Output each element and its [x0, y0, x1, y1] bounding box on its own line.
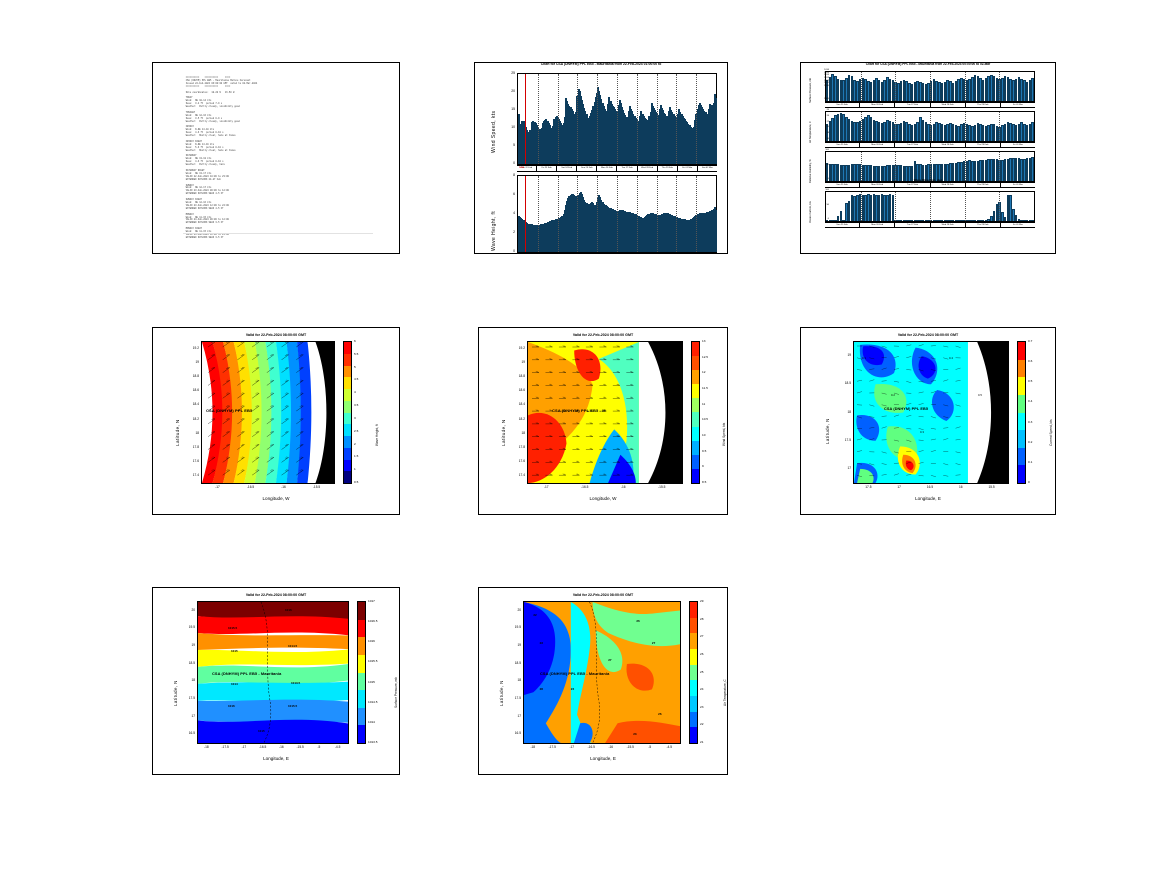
colorbar-segment [692, 455, 699, 469]
gridline [861, 152, 862, 181]
y-tick-label: 19 [501, 643, 521, 647]
colorbar-segment [692, 412, 699, 426]
gridline [558, 176, 559, 252]
current-day-strip: Sun 25 FebMon 26 FebTue 27 FebWed 28 Feb… [825, 222, 1035, 228]
surface-pressure-map-ylabel: Latitude, N [173, 680, 178, 706]
wind-wave-chart-title: Chart for CSA (DNHYM) PPL EB5 - Mauritan… [475, 62, 727, 66]
gridline [597, 74, 598, 164]
y-tick-label: 19.2 [505, 346, 525, 350]
wave-height-colorbar-title: Wave Height, ft [375, 424, 379, 446]
x-tick-label: -15.5 [305, 485, 329, 489]
contour-label: 22 [533, 613, 536, 617]
y-tick-label: 17.5 [175, 696, 195, 700]
surface-pressure-map-xlabel: Longitude, E [153, 756, 399, 761]
colorbar-tick-label: 13 [702, 339, 705, 343]
panel-current-speed-map: Valid for 22-Feb-2024 08:00:00 GMT CSA (… [800, 327, 1056, 515]
y-tick-label: 100 [807, 149, 829, 151]
y-tick-label: 0 [493, 249, 515, 253]
y-tick-label: 19 [505, 360, 525, 364]
x-tick-label: -17 [206, 485, 230, 489]
gridline [895, 112, 896, 141]
bar [715, 98, 717, 164]
current-speed-colorbar [1017, 341, 1026, 484]
x-tick-label: 16.5 [918, 485, 942, 489]
wind-speed-map-xlabel: Longitude, W [479, 496, 727, 501]
colorbar-tick-label: 3.5 [354, 403, 358, 407]
y-tick-label: 19.2 [179, 346, 199, 350]
gridline [999, 152, 1000, 181]
panel-text-report: ========== ========== ==== CSA (DNHYM) P… [152, 62, 400, 254]
colorbar-segment [690, 665, 697, 681]
y-tick-label: 17.6 [179, 459, 199, 463]
day-label: Mon 26 Feb [860, 183, 895, 187]
bar [892, 195, 894, 221]
metocean-chart-title: Chart for CSA (DNHYM) PPL EB5 - Mauritan… [801, 62, 1055, 66]
contour-label: 1015.5 [228, 626, 237, 630]
y-tick-label: 17 [175, 714, 195, 718]
gridline [538, 74, 539, 164]
y-tick-label: 17.5 [501, 696, 521, 700]
contour-label: 1014.5 [288, 644, 297, 648]
wave-height-axes [517, 175, 717, 253]
y-tick-label: 1015 [807, 72, 829, 74]
site-label: CSA (DNHYM) PPL EB5 [206, 408, 252, 413]
air-temperature-map-title: Valid for 22-Feb-2024 08:00:00 GMT [479, 593, 727, 597]
day-label: Mon 26 Feb [597, 166, 617, 171]
colorbar-tick-label: 8.5 [702, 480, 706, 484]
colorbar-segment [1018, 360, 1025, 378]
y-tick-label: 2 [493, 230, 515, 234]
day-label: Fri 23 Feb [537, 166, 557, 171]
y-tick-label: 25 [493, 71, 515, 75]
y-tick-label: 17.5 [831, 438, 851, 442]
day-label: Tue 27 Feb [895, 223, 930, 227]
gridline [965, 152, 966, 181]
gridline [930, 192, 931, 221]
panel-wind-wave-timeseries: Chart for CSA (DNHYM) PPL EB5 - Mauritan… [474, 62, 728, 254]
x-tick-label: -16 [272, 485, 296, 489]
day-label: Sun 25 Feb [825, 143, 860, 147]
y-tick-label: 19.5 [175, 625, 195, 629]
colorbar-tick-label: 0.5 [354, 480, 358, 484]
x-tick-label: -16.5 [239, 485, 263, 489]
y-tick-label: 17.6 [505, 459, 525, 463]
day-label: Thu 29 Feb [966, 183, 1001, 187]
colorbar-tick-label: 11.5 [702, 386, 708, 390]
y-tick-label: 1014 [807, 74, 829, 76]
colorbar-segment [692, 398, 699, 412]
colorbar-tick-label: 0.3 [1028, 420, 1032, 424]
colorbar-segment [1018, 413, 1025, 431]
colorbar-segment [690, 602, 697, 618]
colorbar-segment [344, 354, 351, 366]
y-tick-label: 19 [831, 353, 851, 357]
day-label: Thu 29 Feb [966, 143, 1001, 147]
colorbar-tick-label: 23 [700, 705, 703, 709]
day-label: Fri 01 Mar [1001, 103, 1035, 107]
colorbar-tick-label: 1014.5 [368, 700, 377, 704]
y-tick-label: 18 [831, 410, 851, 414]
x-tick-label: -16 [611, 485, 635, 489]
colorbar-tick-label: 11 [702, 402, 705, 406]
air-temperature-map-ylabel: Latitude, N [499, 680, 504, 706]
colorbar-segment [1018, 395, 1025, 413]
gridline [965, 72, 966, 101]
day-label: Tue 27 Feb [895, 183, 930, 187]
colorbar-segment [344, 413, 351, 425]
y-tick-label: 26 [807, 109, 829, 111]
gridline [657, 74, 658, 164]
colorbar-tick-label: 1015 [368, 680, 375, 684]
panel-wind-speed-map: Valid for 22-Feb-2024 08:00:00 GMT CSA (… [478, 327, 728, 515]
y-tick-label: 16.5 [175, 731, 195, 735]
x-tick-label: -15.5 [650, 485, 674, 489]
colorbar-segment [690, 649, 697, 665]
gridline [895, 152, 896, 181]
gridline [577, 176, 578, 252]
day-label: Tue 27 Feb [895, 103, 930, 107]
y-tick-label: 17 [501, 714, 521, 718]
day-label: Fri 01 Mar [1001, 183, 1035, 187]
y-tick-label: 15 [493, 107, 515, 111]
y-tick-label: 17.8 [505, 445, 525, 449]
site-label: CSA (DNHYM) PPL EB5 - Mauritania [540, 671, 609, 676]
day-label: Mon 26 Feb [860, 103, 895, 107]
air-temperature-colorbar-title: Air Temperature, C [723, 679, 727, 706]
colorbar-tick-label: 1013.5 [368, 740, 377, 744]
day-label: Thu 29 Feb [658, 166, 678, 171]
contour-label: 26 [658, 712, 661, 716]
y-tick-label: 1012 [807, 80, 829, 82]
now-label-wind: now [519, 166, 524, 169]
panel-surface-pressure-map: Valid for 22-Feb-2024 08:00:00 GMT CSA (… [152, 587, 400, 775]
colorbar-tick-label: 1015.5 [368, 659, 377, 663]
gridline [999, 72, 1000, 101]
colorbar-segment [690, 633, 697, 649]
colorbar-tick-label: 3 [354, 416, 356, 420]
wind-speed-map-title: Valid for 22-Feb-2024 08:00:00 GMT [479, 333, 727, 337]
site-label: CSA (DNHYM) PPL EB5 [884, 407, 928, 411]
air-temp-axes [825, 111, 1035, 142]
y-tick-label: 17.4 [505, 473, 525, 477]
colorbar-segment [692, 469, 699, 483]
y-tick-label: 1013 [807, 77, 829, 79]
gridline [617, 74, 618, 164]
day-label: Fri 01 Mar [1001, 223, 1035, 227]
colorbar-tick-label: 4 [354, 390, 356, 394]
colorbar-segment [690, 680, 697, 696]
colorbar-tick-label: 29 [700, 599, 703, 603]
pressure-day-strip: Sun 25 FebMon 26 FebTue 27 FebWed 28 Feb… [825, 102, 1035, 108]
colorbar-segment [692, 342, 699, 356]
current-speed-map-xlabel: Longitude, E [801, 496, 1055, 501]
pressure-axes [825, 71, 1035, 102]
y-tick-label: 18 [505, 431, 525, 435]
colorbar-tick-label: 6 [354, 339, 356, 343]
colorbar-tick-label: 0.4 [1028, 399, 1032, 403]
gridline [930, 152, 931, 181]
colorbar-tick-label: 0.2 [1028, 440, 1032, 444]
wind-speed-colorbar-title: Wind Speed, kts [722, 423, 726, 446]
colorbar-tick-label: 25 [700, 670, 703, 674]
day-label: Thu 29 Feb [966, 103, 1001, 107]
colorbar-tick-label: 27 [700, 634, 703, 638]
y-tick-label: 18.4 [505, 402, 525, 406]
contour-label: 23 [540, 641, 543, 645]
forecast-text-body: ========== ========== ==== CSA (DNHYM) P… [183, 77, 391, 247]
gridline [861, 112, 862, 141]
gridline [676, 74, 677, 164]
y-tick-label: 8 [493, 173, 515, 177]
colorbar-segment [1018, 465, 1025, 483]
colorbar-tick-label: 1016.5 [368, 619, 377, 623]
gridline [861, 72, 862, 101]
day-label: Wed 28 Feb [931, 223, 966, 227]
colorbar-segment [1018, 342, 1025, 360]
wind-day-strip: Thu 22 FebFri 23 FebSat 24 FebSun 25 Feb… [517, 165, 717, 172]
colorbar-tick-label: 0.1 [1028, 460, 1032, 464]
day-label: Sun 25 Feb [577, 166, 597, 171]
site-label: CSA (DNHYM) PPL EB5 - M [552, 408, 606, 413]
y-tick-label: 16 [807, 138, 829, 140]
colorbar-segment [692, 441, 699, 455]
contour-label: 1014 [231, 682, 238, 686]
y-tick-label: 20 [493, 89, 515, 93]
temp-day-strip: Sun 25 FebMon 26 FebTue 27 FebWed 28 Feb… [825, 142, 1035, 148]
y-tick-label: 18 [179, 431, 199, 435]
y-tick-label: 17.8 [179, 445, 199, 449]
colorbar-tick-label: 10.5 [702, 417, 708, 421]
y-tick-label: 4 [493, 211, 515, 215]
gridline [930, 72, 931, 101]
day-label: Sun 25 Feb [825, 223, 860, 227]
y-tick-label: 24 [807, 115, 829, 117]
colorbar-tick-label: 0.7 [1028, 339, 1032, 343]
y-tick-label: 18.5 [501, 661, 521, 665]
contour-label: 27 [608, 658, 611, 662]
colorbar-tick-label: 4.5 [354, 377, 358, 381]
gridline [637, 74, 638, 164]
colorbar-tick-label: 5 [354, 365, 356, 369]
colorbar-tick-label: 2.5 [354, 429, 358, 433]
day-label: Tue 27 Feb [895, 143, 930, 147]
contour-label: 1015 [258, 729, 265, 733]
x-tick-label: -4.5 [657, 745, 681, 749]
contour-label: 27 [652, 641, 655, 645]
day-label: Wed 28 Feb [638, 166, 658, 171]
y-tick-label: 18.4 [179, 402, 199, 406]
y-tick-label: 100 [807, 189, 829, 191]
day-label: Thu 29 Feb [966, 223, 1001, 227]
day-label: Sun 25 Feb [825, 103, 860, 107]
colorbar-segment [358, 620, 365, 638]
x-tick-label: -17 [534, 485, 558, 489]
wave-height-map-axes: CSA (DNHYM) PPL EB5 [201, 341, 335, 484]
colorbar-tick-label: 28 [700, 617, 703, 621]
day-label: Mon 26 Feb [860, 143, 895, 147]
colorbar-segment [358, 655, 365, 673]
gridline [965, 192, 966, 221]
map-canvas [854, 342, 1008, 483]
surface-pressure-map-axes: CSA (DNHYM) PPL EB5 - Mauritania10161015… [197, 601, 349, 744]
colorbar-segment [358, 637, 365, 655]
panel-air-temperature-map: Valid for 22-Feb-2024 08:00:00 GMT CSA (… [478, 587, 728, 775]
y-tick-label: 1016 [807, 69, 829, 71]
contour-label: 1016 [228, 704, 235, 708]
gridline [617, 176, 618, 252]
wave-height-map-title: Valid for 22-Feb-2024 08:00:00 GMT [153, 333, 399, 337]
x-tick-label: 17.5 [856, 485, 880, 489]
colorbar-tick-label: 5.5 [354, 352, 358, 356]
gridline [676, 176, 677, 252]
contour-label: 1016 [285, 608, 292, 612]
y-tick-label: 1005 [807, 98, 829, 100]
panel-metocean-timeseries: Chart for CSA (DNHYM) PPL EB5 - Mauritan… [800, 62, 1056, 254]
colorbar-segment [344, 436, 351, 448]
y-tick-label: 18.5 [831, 381, 851, 385]
day-label: Wed 28 Feb [931, 143, 966, 147]
surface-pressure-colorbar-title: Surface Pressure, mb [394, 677, 398, 708]
contour-label: 1015.5 [288, 704, 297, 708]
panel-wave-height-map: Valid for 22-Feb-2024 08:00:00 GMT CSA (… [152, 327, 400, 515]
colorbar-tick-label: 26 [700, 652, 703, 656]
y-tick-label: 16.5 [501, 731, 521, 735]
colorbar-segment [1018, 430, 1025, 448]
y-tick-label: 18.8 [505, 374, 525, 378]
colorbar-segment [344, 471, 351, 483]
colorbar-segment [690, 696, 697, 712]
y-tick-label: 18.2 [179, 417, 199, 421]
colorbar-tick-label: 24 [700, 687, 703, 691]
bar [715, 210, 717, 252]
colorbar-tick-label: 12.5 [702, 355, 708, 359]
y-tick-label: 17.4 [179, 473, 199, 477]
y-tick-label: 19.5 [501, 625, 521, 629]
day-label: Sat 02 Mar [698, 166, 717, 171]
contour-label: 22 [571, 687, 574, 691]
current-speed-colorbar-title: Current Speed, kts [1049, 419, 1053, 446]
y-tick-label: 6 [493, 192, 515, 196]
contour-label: 0.4 [949, 356, 953, 360]
bar [1031, 122, 1033, 141]
day-label: Wed 28 Feb [931, 103, 966, 107]
day-label: Wed 28 Feb [931, 183, 966, 187]
colorbar-tick-label: 2 [354, 442, 356, 446]
gridline [577, 74, 578, 164]
colorbar-segment [358, 690, 365, 708]
colorbar-tick-label: 9 [702, 464, 704, 468]
y-tick-label: 18.6 [179, 388, 199, 392]
colorbar-segment [344, 424, 351, 436]
x-tick-label: 17 [887, 485, 911, 489]
y-tick-label: 50 [807, 204, 829, 206]
air-temperature-map-axes: CSA (DNHYM) PPL EB5 - Mauritania22232627… [523, 601, 681, 744]
colorbar-tick-label: 21 [700, 740, 703, 744]
colorbar-segment [344, 389, 351, 401]
day-label: Sat 24 Feb [557, 166, 577, 171]
day-label: Sun 25 Feb [825, 183, 860, 187]
gridline [999, 112, 1000, 141]
y-tick-label: 18.2 [505, 417, 525, 421]
colorbar-segment [358, 708, 365, 726]
gridline [696, 176, 697, 252]
colorbar-segment [690, 618, 697, 634]
contour-label: 28 [540, 687, 543, 691]
contour-label: 26 [636, 619, 639, 623]
report-page: ========== ========== ==== CSA (DNHYM) P… [0, 0, 1167, 875]
y-tick-label: 19 [179, 360, 199, 364]
colorbar-tick-label: 0.6 [1028, 359, 1032, 363]
colorbar-segment [358, 602, 365, 620]
contour-label: 0.3 [920, 430, 924, 434]
y-tick-label: 1011 [807, 82, 829, 84]
gridline [558, 74, 559, 164]
y-tick-label: 20 [175, 608, 195, 612]
y-tick-label: 5 [493, 143, 515, 147]
colorbar-segment [690, 712, 697, 728]
colorbar-segment [358, 725, 365, 743]
wave-height-map-xlabel: Longitude, W [153, 496, 399, 501]
now-marker-line [525, 176, 526, 252]
gridline [637, 176, 638, 252]
y-tick-label: 17 [831, 466, 851, 470]
now-marker-line [525, 74, 526, 164]
wind-speed-map-axes: CSA (DNHYM) PPL EB5 - M [527, 341, 683, 484]
colorbar-segment [344, 377, 351, 389]
surface-pressure-map-title: Valid for 22-Feb-2024 08:00:00 GMT [153, 593, 399, 597]
gridline [657, 176, 658, 252]
contour-label: 0.2 [891, 393, 895, 397]
day-label: Tue 27 Feb [617, 166, 637, 171]
y-tick-label: 18 [807, 132, 829, 134]
current-speed-map-ylabel: Latitude, N [825, 418, 830, 444]
colorbar-tick-label: 1014 [368, 720, 375, 724]
y-tick-label: 20 [501, 608, 521, 612]
y-tick-label: 18.8 [179, 374, 199, 378]
colorbar-tick-label: 0 [1028, 480, 1030, 484]
wave-direction-title: Wave Direction, deg [801, 178, 1055, 182]
gridline [895, 72, 896, 101]
contour-label: 0.5 [978, 393, 982, 397]
y-tick-label: 18.6 [505, 388, 525, 392]
colorbar-segment [1018, 448, 1025, 466]
colorbar-segment [692, 384, 699, 398]
day-label: Mon 26 Feb [860, 223, 895, 227]
bar [1031, 78, 1033, 101]
humidity-day-strip: Sun 25 FebMon 26 FebTue 27 FebWed 28 Feb… [825, 182, 1035, 188]
colorbar-segment [344, 401, 351, 413]
gridline [930, 112, 931, 141]
contour-label: 1013.5 [291, 681, 300, 685]
wind-speed-axes [517, 73, 717, 165]
contour-label: 1015 [231, 649, 238, 653]
gridline [965, 112, 966, 141]
colorbar-tick-label: 22 [700, 722, 703, 726]
gridline [696, 74, 697, 164]
y-tick-label: 19 [175, 643, 195, 647]
colorbar-segment [692, 356, 699, 370]
colorbar-segment [344, 366, 351, 378]
colorbar-segment [344, 342, 351, 354]
y-tick-label: 20 [807, 126, 829, 128]
doc-divider [183, 233, 373, 234]
air-temperature-map-xlabel: Longitude, E [479, 756, 727, 761]
colorbar-segment [692, 370, 699, 384]
y-tick-label: 18 [175, 678, 195, 682]
gridline [999, 192, 1000, 221]
air-temperature-colorbar [689, 601, 698, 744]
gridline [861, 192, 862, 221]
